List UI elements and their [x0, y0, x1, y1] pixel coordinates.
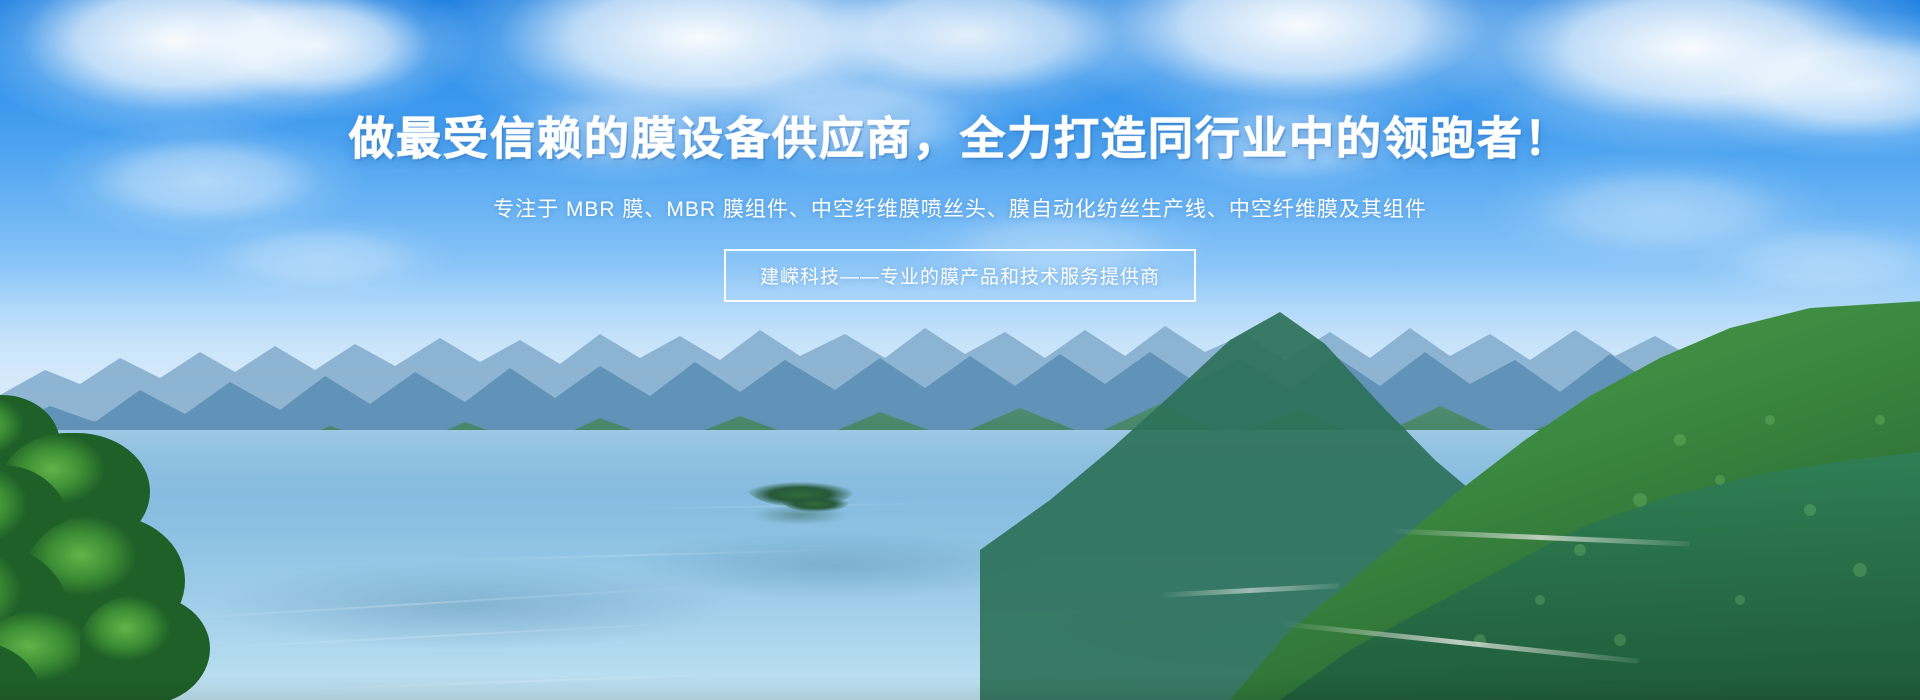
- banner-tagline-box: 建嵘科技——专业的膜产品和技术服务提供商: [724, 249, 1196, 302]
- islet-reflection: [752, 505, 848, 525]
- banner-subheadline: 专注于 MBR 膜、MBR 膜组件、中空纤维膜喷丝头、膜自动化纺丝生产线、中空纤…: [493, 193, 1427, 223]
- banner-headline: 做最受信赖的膜设备供应商，全力打造同行业中的领跑者！: [349, 102, 1571, 167]
- bottom-vignette: [0, 640, 1920, 700]
- hero-banner: 做最受信赖的膜设备供应商，全力打造同行业中的领跑者！ 专注于 MBR 膜、MBR…: [0, 0, 1920, 700]
